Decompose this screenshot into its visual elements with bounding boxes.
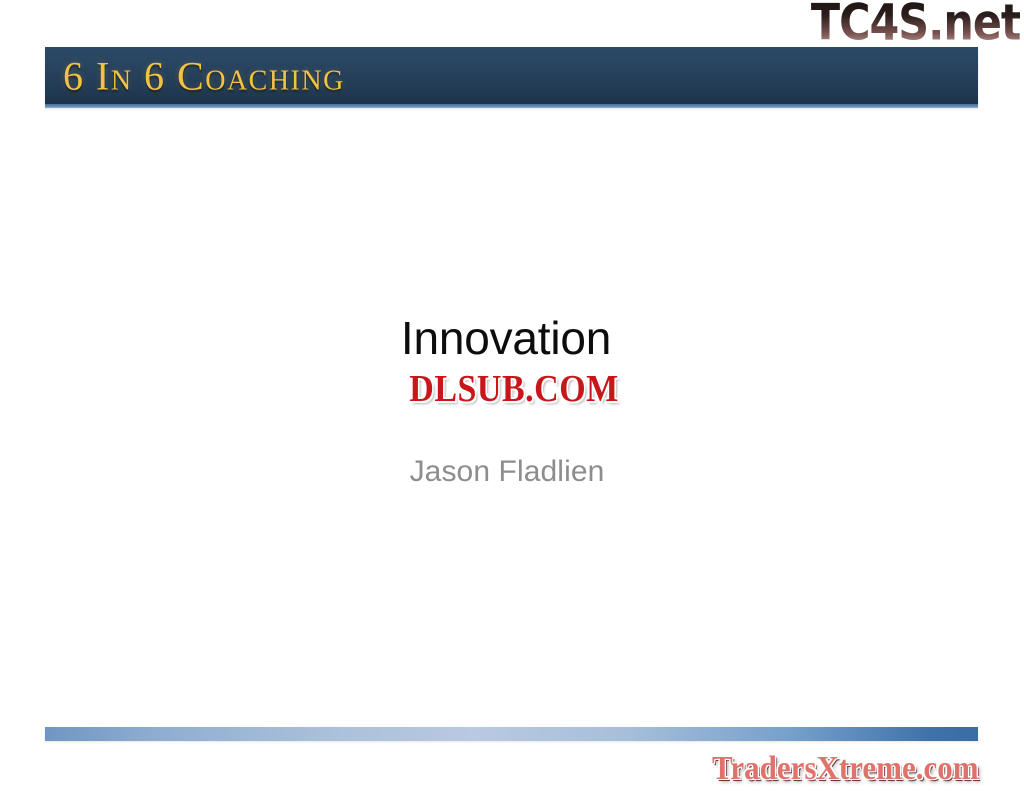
page-title-text: Innovation	[401, 314, 611, 362]
watermark-tc4s: TC4S.net	[811, 0, 1020, 48]
watermark-dlsub: DLSUB.COM	[368, 369, 660, 412]
header-title: 6 In 6 Coaching	[63, 53, 345, 100]
watermark-tradersxtreme: TradersXtreme.com	[712, 749, 979, 788]
page-subtitle: Jason Fladlien	[0, 455, 1024, 489]
slide-header-banner: 6 In 6 Coaching	[45, 47, 978, 107]
presentation-slide: 6 In 6 Coaching Innovation Jason Fladlie…	[0, 0, 1024, 791]
page-title: Innovation	[0, 314, 1024, 362]
page-subtitle-text: Jason Fladlien	[410, 455, 605, 489]
slide-footer-bar	[45, 727, 978, 741]
